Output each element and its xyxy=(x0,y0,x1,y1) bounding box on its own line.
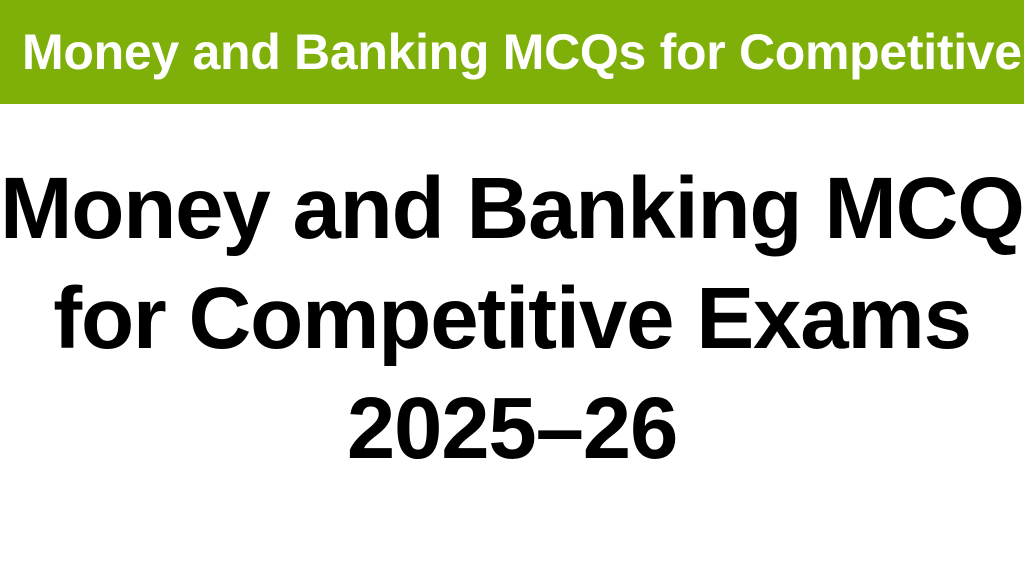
page-title-line-3: 2025–26 xyxy=(0,374,1024,484)
header-banner: Money and Banking MCQs for Competitive xyxy=(0,0,1024,104)
banner-title: Money and Banking MCQs for Competitive xyxy=(22,0,1024,104)
page-title: Money and Banking MCQs for Competitive E… xyxy=(0,154,1024,484)
main-content: Money and Banking MCQs for Competitive E… xyxy=(0,104,1024,576)
page-title-line-1: Money and Banking MCQs xyxy=(0,154,1024,264)
page-root: Money and Banking MCQs for Competitive M… xyxy=(0,0,1024,576)
page-title-line-2: for Competitive Exams xyxy=(0,264,1024,374)
